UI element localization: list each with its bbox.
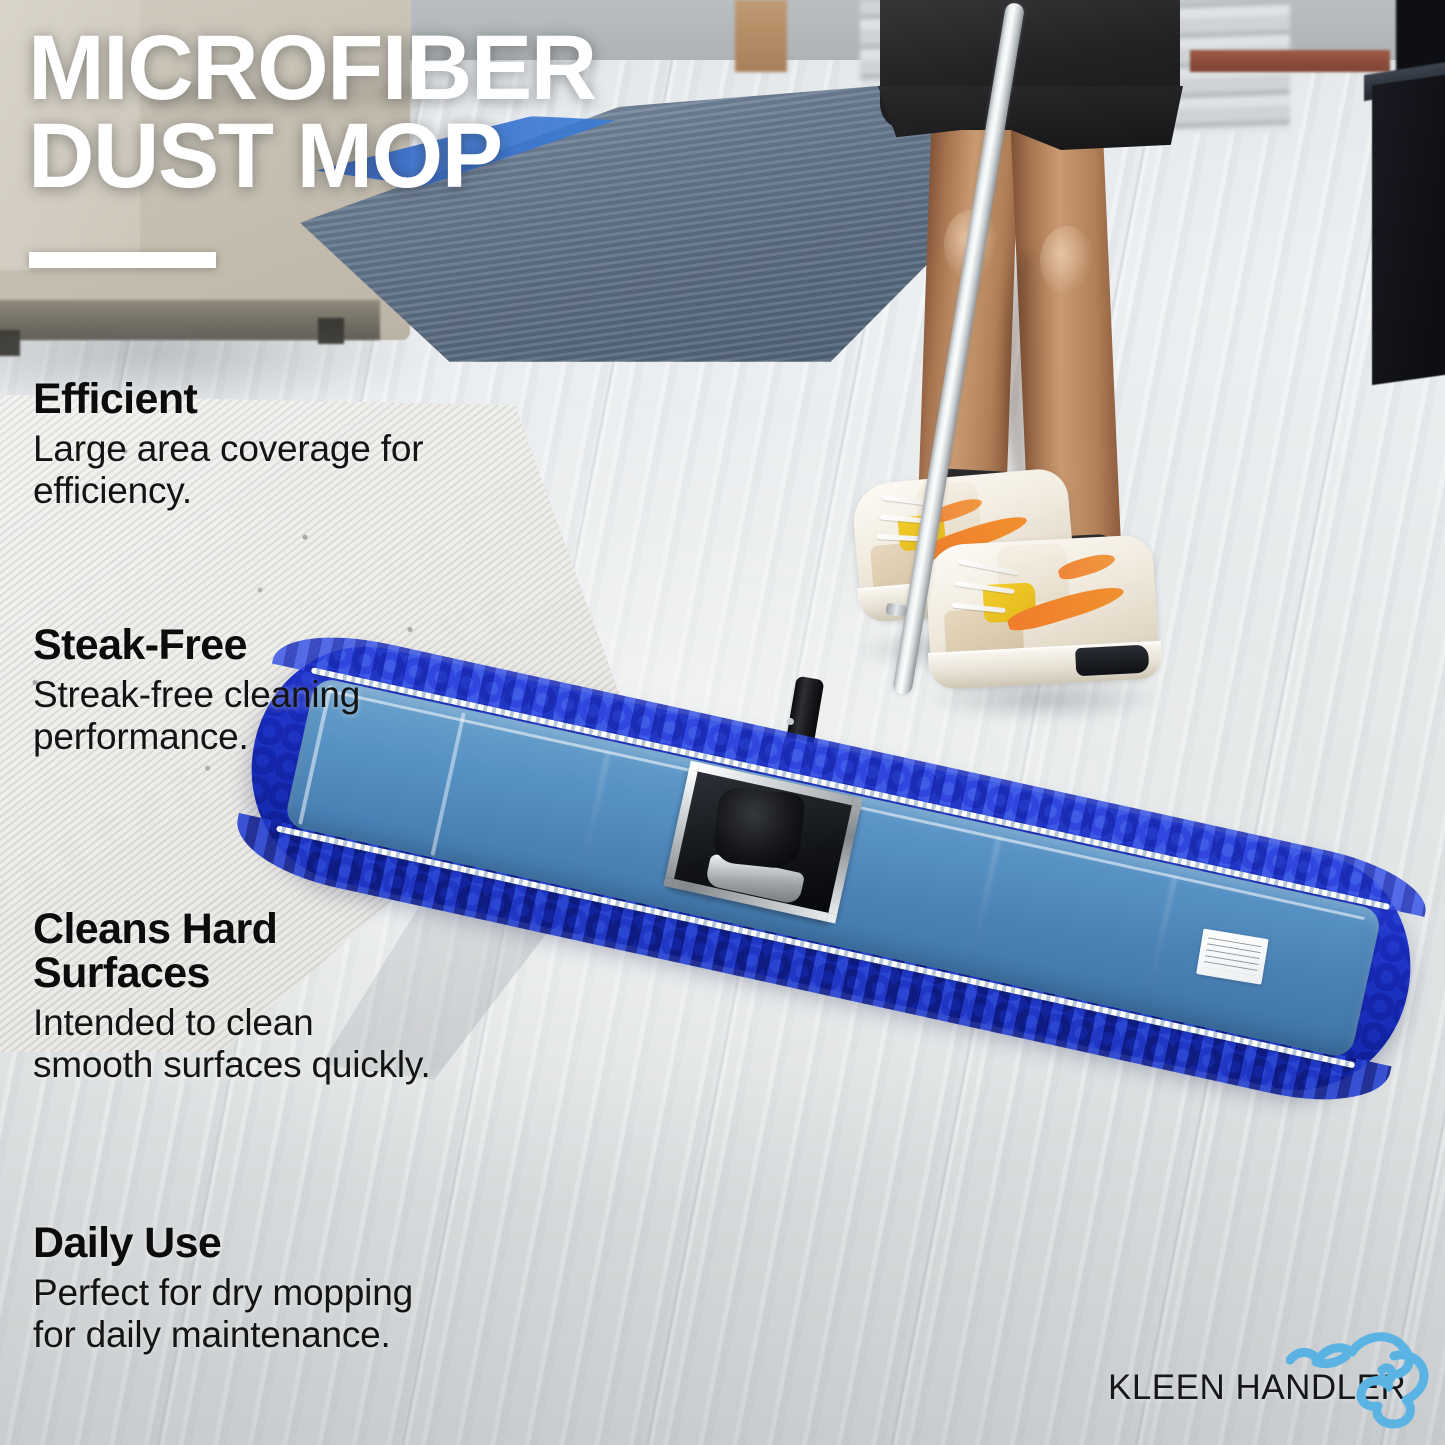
- feature-body: Streak-free cleaning performance.: [33, 674, 363, 758]
- feature-block-daily-use: Daily Use Perfect for dry mopping for da…: [33, 1222, 413, 1356]
- feature-heading: Cleans Hard Surfaces: [33, 908, 433, 996]
- feature-heading: Efficient: [33, 378, 483, 422]
- water-splash-icon: [1286, 1326, 1432, 1434]
- feature-body: Large area coverage for efficiency.: [33, 428, 483, 512]
- sneaker-air-unit: [1075, 644, 1149, 676]
- pad-wrinkle: [1145, 875, 1176, 1005]
- page-title: MICROFIBER DUST MOP: [28, 24, 728, 201]
- brand-logo: KLEEN HANDLER: [1108, 1330, 1428, 1440]
- right-sneaker: [924, 534, 1159, 688]
- title-line-1: MICROFIBER: [28, 24, 728, 112]
- feature-block-cleans-hard-surfaces: Cleans Hard Surfaces Intended to clean s…: [33, 908, 433, 1086]
- feature-body: Perfect for dry mopping for daily mainte…: [33, 1272, 413, 1356]
- knee-highlight: [1040, 226, 1094, 296]
- title-underline-rule: [29, 252, 216, 268]
- feature-block-steak-free: Steak-Free Streak-free cleaning performa…: [33, 624, 363, 758]
- feature-block-efficient: Efficient Large area coverage for effici…: [33, 378, 483, 512]
- feature-heading: Steak-Free: [33, 624, 363, 668]
- mop-swivel-joint: [712, 786, 805, 871]
- feature-body: Intended to clean smooth surfaces quickl…: [33, 1002, 433, 1086]
- pad-wrinkle: [969, 836, 1000, 966]
- title-line-2: DUST MOP: [28, 112, 728, 200]
- pad-wrinkle: [579, 751, 610, 881]
- care-label-text-lines: [1203, 937, 1261, 975]
- feature-heading: Daily Use: [33, 1222, 413, 1266]
- leg-shadow: [1006, 250, 1046, 500]
- product-infographic: MICROFIBER DUST MOP Efficient Large area…: [0, 0, 1445, 1445]
